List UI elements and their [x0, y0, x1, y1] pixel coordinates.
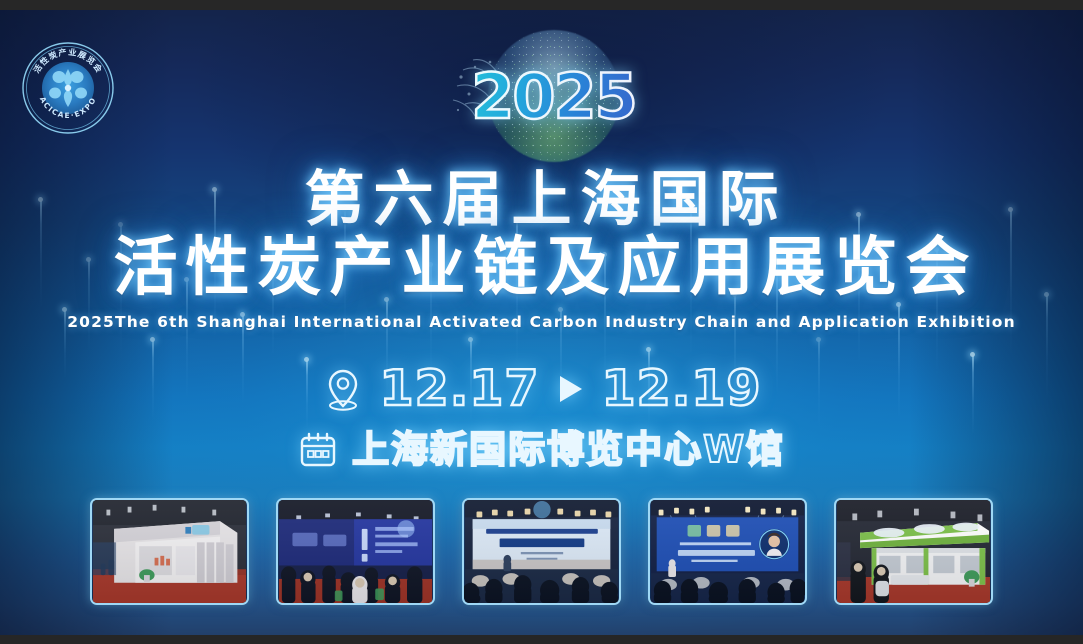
photo-exhibition-booth-white[interactable]: [90, 498, 249, 605]
date-end: 12.19: [602, 364, 762, 413]
title-line-1: 第六届上海国际: [0, 165, 1083, 235]
year-globe-graphic: 2025: [451, 22, 656, 172]
venue-row: 上海新国际博览中心W馆: [0, 430, 1083, 471]
photo-visitor-crowd[interactable]: [276, 498, 435, 605]
date-arrow-icon: [560, 376, 582, 402]
photo-strip: [0, 498, 1083, 610]
venue-text: 上海新国际博览中心W馆: [352, 430, 785, 471]
title-line-2: 活性炭产业链及应用展览会: [0, 231, 1083, 305]
year-text: 2025: [451, 66, 656, 128]
photo-industry-summit-forum[interactable]: [462, 498, 621, 605]
bottom-letterbox-bar: [0, 635, 1083, 644]
photo-air-purification-forum[interactable]: [648, 498, 807, 605]
date-row: 12.17 12.19: [0, 364, 1083, 413]
expo-poster: 活性炭产业展览会 ACICAE·EXPO 2025: [0, 0, 1083, 644]
title-block: 第六届上海国际 活性炭产业链及应用展览会: [0, 165, 1083, 305]
acicae-expo-logo: 活性炭产业展览会 ACICAE·EXPO: [21, 41, 115, 135]
location-pin-icon: [322, 366, 364, 412]
subtitle-english: 2025The 6th Shanghai International Activ…: [0, 313, 1083, 331]
date-start: 12.17: [380, 364, 540, 413]
calendar-icon: [298, 430, 338, 470]
photo-exhibition-booth-green[interactable]: [834, 498, 993, 605]
top-letterbox-bar: [0, 0, 1083, 10]
